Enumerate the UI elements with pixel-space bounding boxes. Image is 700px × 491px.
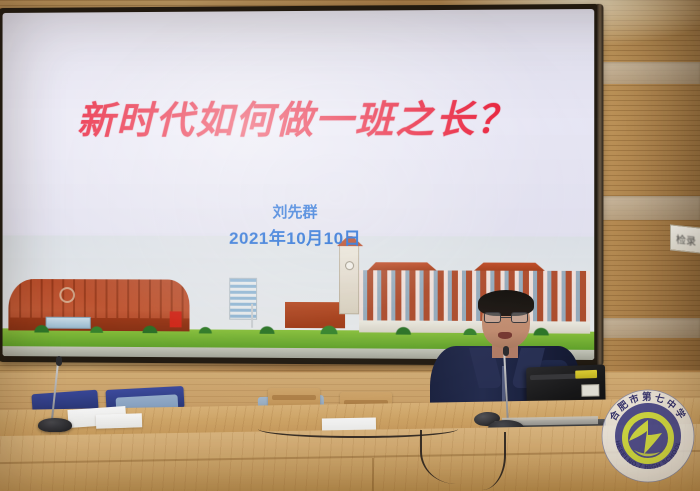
- school-watermark-logo: 合肥市第七中学 HEFEI NO.7 HIGH SCHOOL: [598, 386, 698, 486]
- table-panel-seam: [372, 458, 374, 491]
- photo-clock-face: [345, 261, 354, 270]
- photograph-scene: 检录 新时代如何做一班之长？ 刘先群 2021年10月10日: [0, 0, 700, 491]
- photo-clock-tower: [339, 244, 359, 314]
- microphone-capsule: [503, 346, 509, 356]
- slide-title: 新时代如何做一班之长？: [3, 88, 595, 145]
- glasses-bridge: [501, 317, 511, 318]
- laptop-sticker: [575, 370, 597, 379]
- slide-author: 刘先群: [3, 201, 595, 223]
- glasses-lens: [511, 312, 528, 323]
- slide-date: 2021年10月10日: [3, 224, 595, 250]
- photo-stadium-emblem: [59, 287, 75, 303]
- microphone-capsule: [56, 356, 62, 366]
- glasses-lens: [484, 312, 501, 323]
- paper-sheet: [96, 413, 142, 429]
- glasses-icon: [484, 312, 528, 323]
- laptop-label-sticker: [581, 384, 599, 397]
- chair-slat: [272, 395, 316, 400]
- wall-sign-label: 检录: [676, 230, 696, 247]
- microphone-base: [38, 418, 72, 432]
- presenter-mouth: [498, 332, 512, 339]
- wall-sign: 检录: [670, 224, 700, 253]
